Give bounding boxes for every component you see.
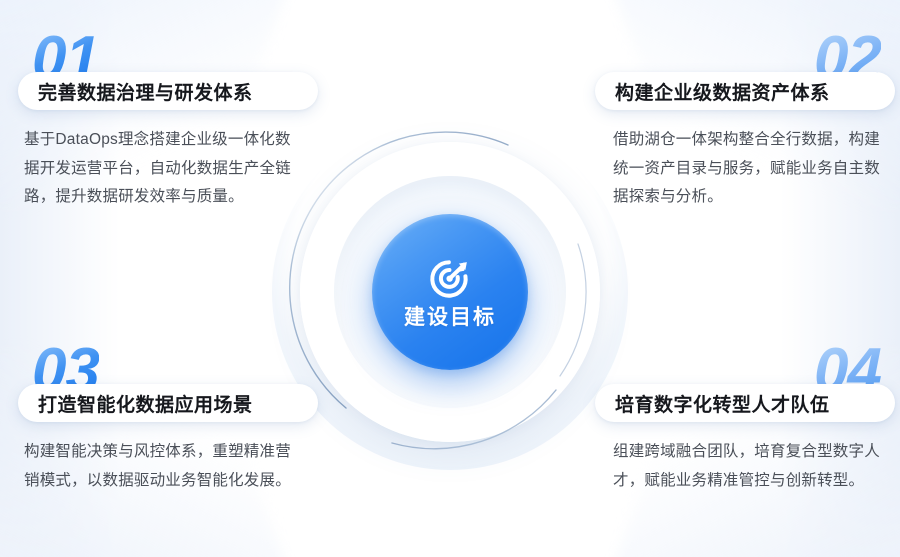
quadrant-02: 02 构建企业级数据资产体系 借助湖仓一体架构整合全行数据，构建统一资产目录与服… xyxy=(595,28,895,212)
quadrant-description-04: 组建跨域融合团队，培育复合型数字人才，赋能业务精准管控与创新转型。 xyxy=(613,438,885,495)
quadrant-title-pill-01[interactable]: 完善数据治理与研发体系 xyxy=(18,72,318,110)
quadrant-title-pill-03[interactable]: 打造智能化数据应用场景 xyxy=(18,384,318,422)
quadrant-description-03: 构建智能决策与风控体系，重塑精准营销模式，以数据驱动业务智能化发展。 xyxy=(24,438,296,495)
quadrant-title-03: 打造智能化数据应用场景 xyxy=(38,390,253,417)
quadrant-title-01: 完善数据治理与研发体系 xyxy=(38,78,253,105)
quadrant-description-01: 基于DataOps理念搭建企业级一体化数据开发运营平台，自动化数据生产全链路，提… xyxy=(24,126,296,212)
target-dart-icon xyxy=(427,256,473,302)
quadrant-title-02: 构建企业级数据资产体系 xyxy=(615,78,830,105)
quadrant-title-pill-02[interactable]: 构建企业级数据资产体系 xyxy=(595,72,895,110)
quadrant-04: 04 培育数字化转型人才队伍 组建跨域融合团队，培育复合型数字人才，赋能业务精准… xyxy=(595,340,895,495)
center-goal-badge[interactable]: 建设目标 xyxy=(372,214,528,370)
center-label: 建设目标 xyxy=(404,307,496,328)
infographic-canvas: 建设目标 01 完善数据治理与研发体系 基于DataOps理念搭建企业级一体化数… xyxy=(0,0,900,557)
quadrant-title-04: 培育数字化转型人才队伍 xyxy=(615,390,830,417)
quadrant-description-02: 借助湖仓一体架构整合全行数据，构建统一资产目录与服务，赋能业务自主数据探索与分析… xyxy=(613,126,885,212)
quadrant-01: 01 完善数据治理与研发体系 基于DataOps理念搭建企业级一体化数据开发运营… xyxy=(18,28,318,212)
quadrant-title-pill-04[interactable]: 培育数字化转型人才队伍 xyxy=(595,384,895,422)
quadrant-03: 03 打造智能化数据应用场景 构建智能决策与风控体系，重塑精准营销模式，以数据驱… xyxy=(18,340,318,495)
